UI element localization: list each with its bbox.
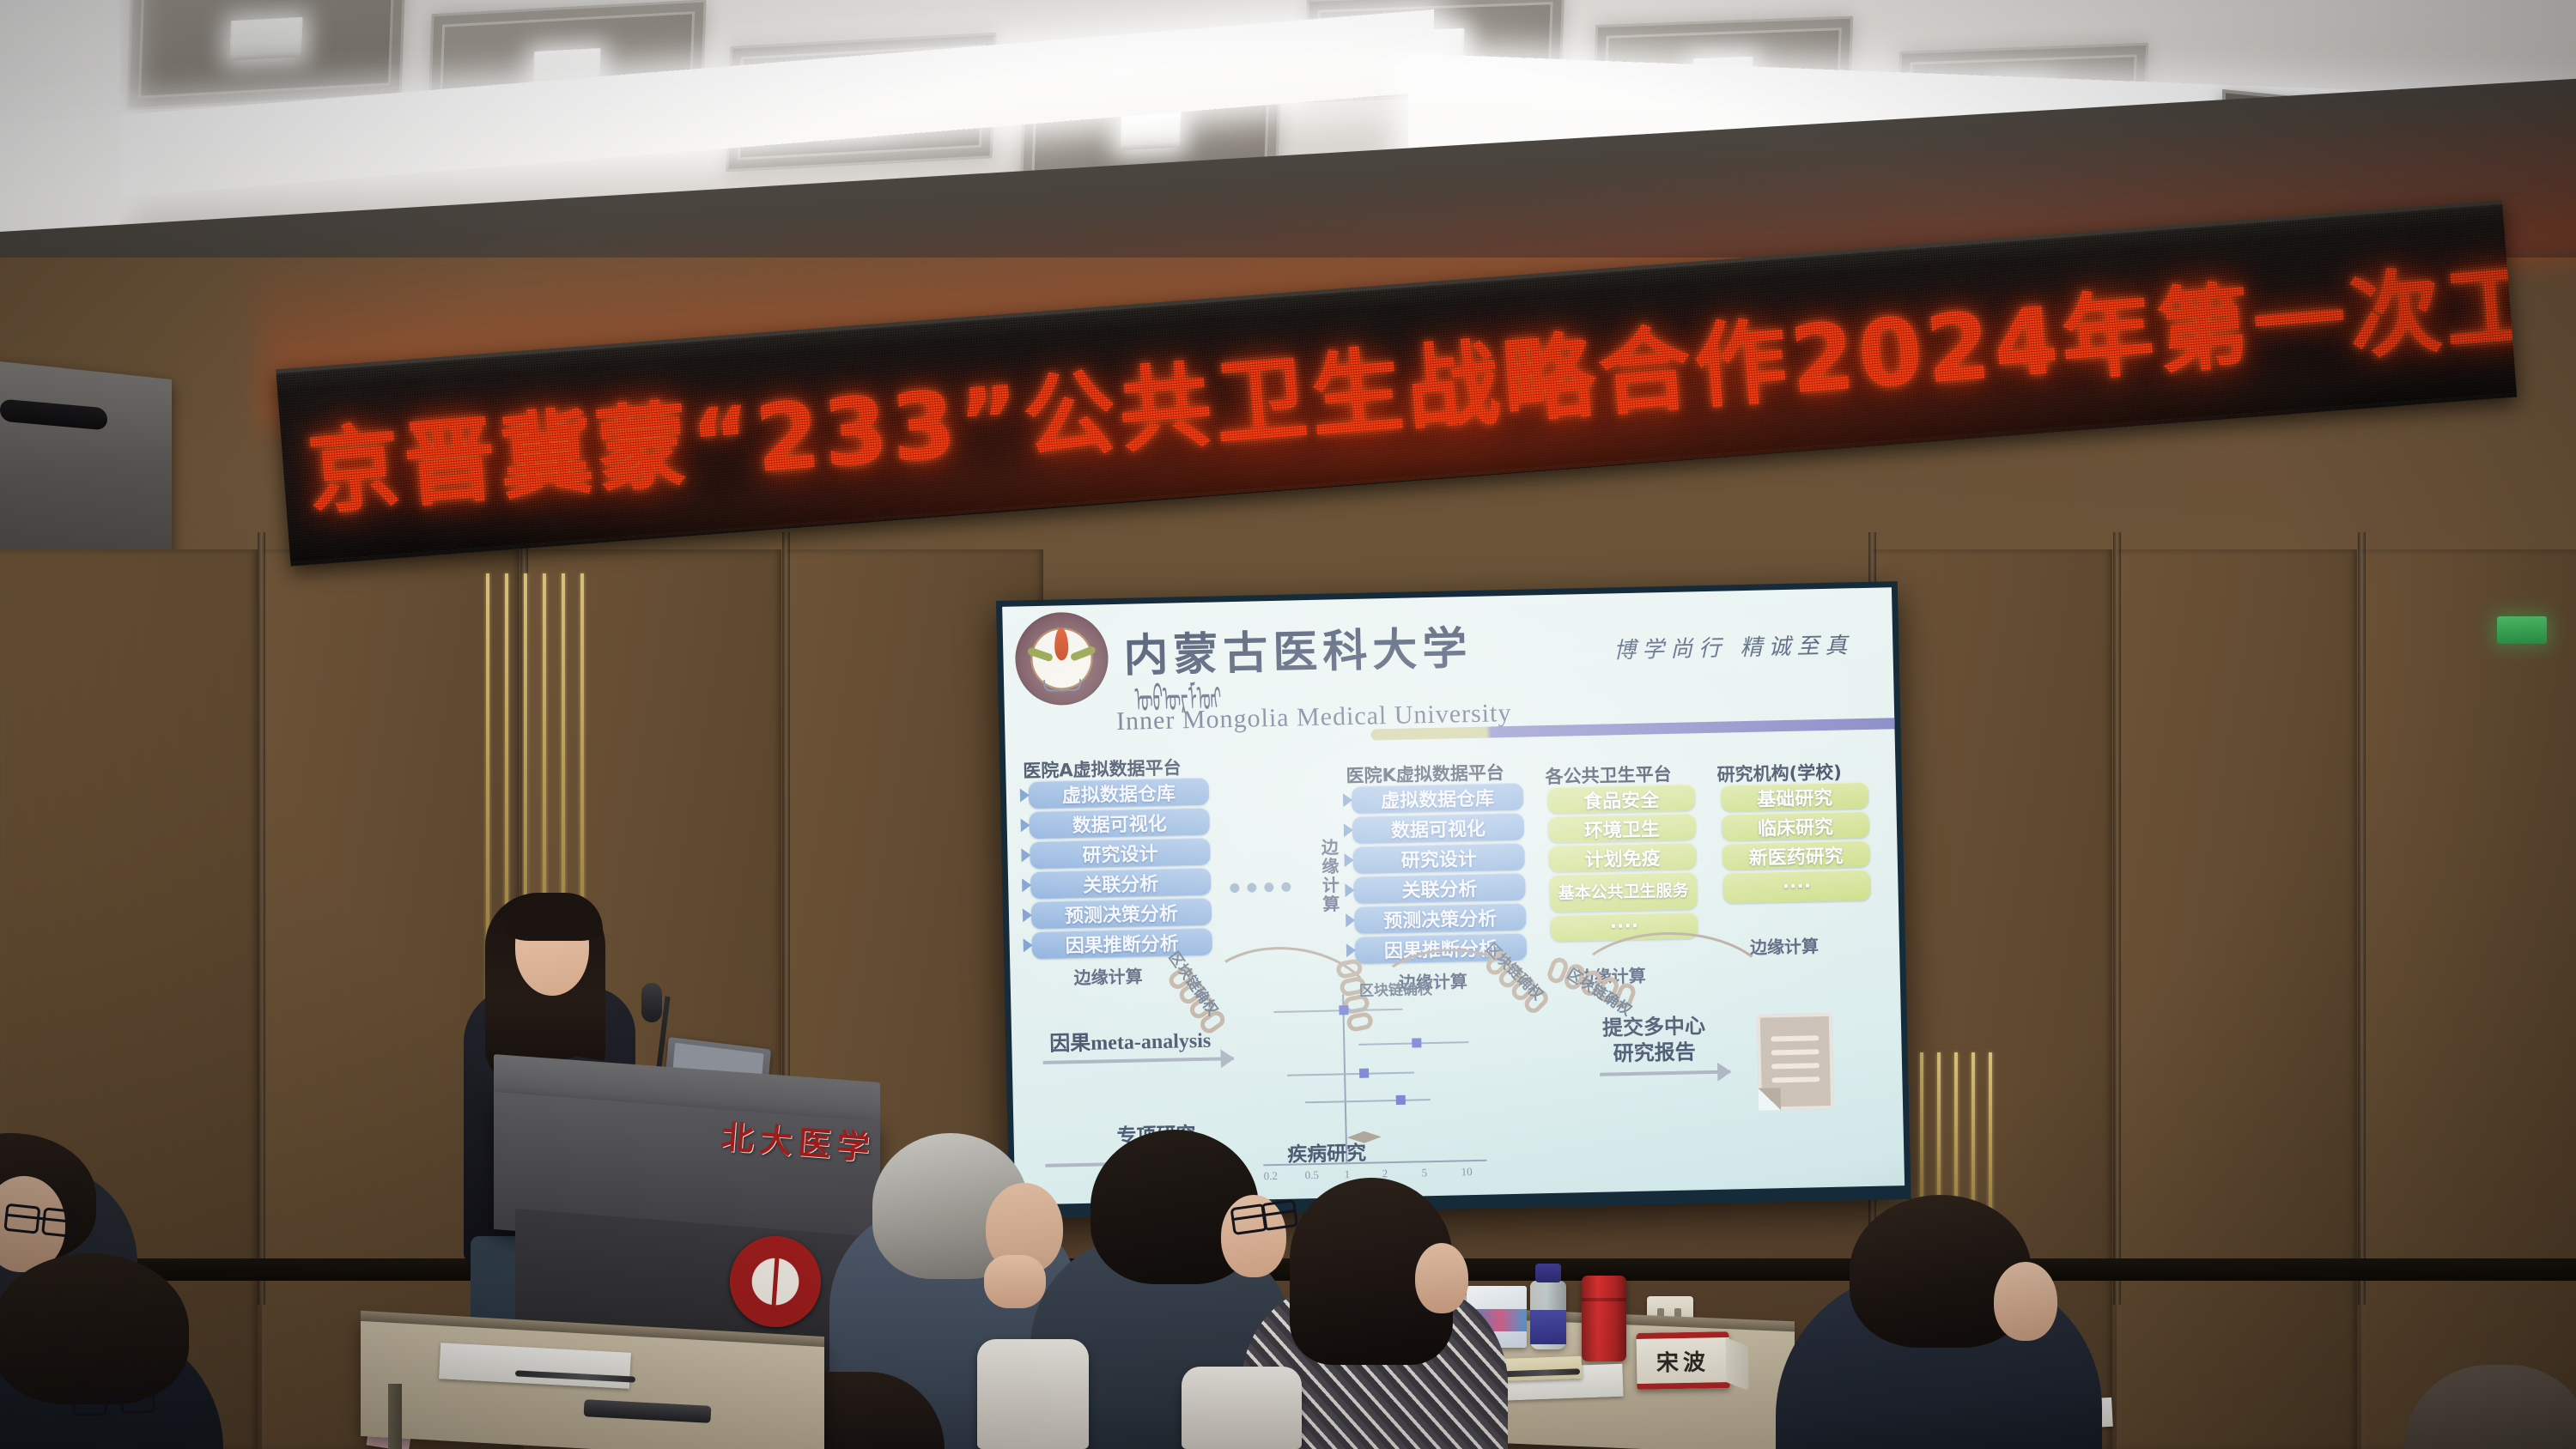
projection-screen: 内蒙古医科大学 ᠥᠪᠦᠷᠮᠤᠩ Inner Mongolia Medical U… (996, 581, 1911, 1219)
slide-cell: 关联分析 (1353, 873, 1526, 904)
slide-cell: 关联分析 (1030, 868, 1212, 900)
flow-label-disease-research: 疾病研究 (1287, 1137, 1367, 1167)
name-card: 宋波 (1636, 1331, 1729, 1390)
eyeglasses-icon (1231, 1210, 1297, 1222)
forest-point (1359, 1069, 1369, 1078)
slide-cell: 基础研究 (1721, 782, 1869, 812)
table-leg (388, 1384, 402, 1449)
slide-cell: 研究设计 (1030, 838, 1211, 870)
slide-edge-compute-label: 边缘计算 (1073, 962, 1143, 989)
forest-tick: 10 (1461, 1165, 1472, 1179)
forest-point (1412, 1038, 1421, 1047)
audience-head (1994, 1262, 2057, 1341)
slide-column-stack: 虚拟数据仓库 数据可视化 研究设计 关联分析 预测决策分析 因果推断分析 (1352, 783, 1528, 967)
slide-cell: 新医药研究 (1722, 840, 1870, 870)
slide-cell: 虚拟数据仓库 (1029, 778, 1210, 809)
forest-tick: 5 (1421, 1166, 1427, 1179)
wall-panel (2361, 549, 2576, 1449)
slide-cell: 基本公共卫生服务 (1549, 871, 1698, 912)
downlight (229, 17, 303, 60)
flow-arrow (1600, 1070, 1730, 1076)
ceiling-coffer (126, 0, 405, 111)
flow-arrow (1043, 1057, 1234, 1064)
slide-cell: ···· (1722, 870, 1871, 904)
wall-baseboard (0, 1258, 2576, 1281)
slide-cell: 预测决策分析 (1031, 898, 1212, 930)
wall-panel-seam (258, 532, 265, 1305)
flow-label-meta-analysis: 因果meta-analysis (1049, 1023, 1212, 1057)
microphone-icon (641, 983, 662, 1022)
chair (1182, 1367, 1302, 1449)
document-icon (1757, 1013, 1834, 1111)
slide-motto: 博学尚行 精诚至真 (1613, 627, 1854, 664)
audience-hair (0, 1253, 189, 1404)
slide-cell: 数据可视化 (1352, 813, 1525, 844)
forest-point (1339, 1005, 1348, 1015)
forest-point (1396, 1095, 1406, 1105)
wall-panel-seam (2113, 532, 2121, 1305)
slide-column-stack: 虚拟数据仓库 数据可视化 研究设计 关联分析 预测决策分析 因果推断分析 (1029, 778, 1213, 962)
slide-cell: 计划免疫 (1548, 842, 1697, 872)
slide-edge-compute-label-middle: 边缘计算 (1316, 838, 1343, 914)
slide-ellipsis-dots (1230, 882, 1291, 894)
slide-cell: 虚拟数据仓库 (1352, 783, 1524, 814)
slide-column-stack: 食品安全 环境卫生 计划免疫 基本公共卫生服务 ···· (1547, 784, 1698, 944)
water-bottle (1530, 1281, 1566, 1349)
exit-sign (2497, 616, 2547, 644)
wall-panel (2117, 549, 2357, 1449)
slide-cell: 临床研究 (1722, 811, 1870, 841)
slide-edge-compute-label: 边缘计算 (1750, 932, 1820, 959)
audience-hand (984, 1255, 1046, 1308)
slide-cell: 预测决策分析 (1354, 903, 1527, 934)
forest-ci (1287, 1072, 1414, 1076)
slide-cell: 数据可视化 (1029, 808, 1210, 840)
wall-panel-seam (2358, 532, 2366, 1305)
audience-head (1415, 1243, 1468, 1313)
university-logo-icon (1014, 611, 1109, 706)
chair (977, 1339, 1089, 1449)
slide-cell: 研究设计 (1352, 843, 1525, 874)
conference-hall-photo: 内蒙古医科大学 ᠥᠪᠦᠷᠮᠤᠩ Inner Mongolia Medical U… (0, 0, 2576, 1449)
slide-org-name-mn: ᠥᠪᠦᠷᠮᠤᠩ (1134, 676, 1221, 703)
forest-tick: 1 (1345, 1167, 1351, 1181)
forest-plot: 0.2 0.5 1 2 5 10 (1248, 991, 1492, 1194)
flow-label-report-2: 研究报告 (1613, 1034, 1696, 1066)
presenter-fringe (507, 893, 603, 941)
slide-column-stack: 基础研究 临床研究 新医药研究 ···· (1721, 782, 1871, 906)
slide-cell: 环境卫生 (1548, 813, 1697, 843)
forest-tick: 0.5 (1305, 1168, 1320, 1182)
forest-ci (1305, 1099, 1431, 1103)
forest-tick: 0.2 (1264, 1169, 1279, 1183)
slide-cell: 食品安全 (1547, 784, 1696, 814)
slide-surface: 内蒙古医科大学 ᠥᠪᠦᠷᠮᠤᠩ Inner Mongolia Medical U… (1002, 587, 1905, 1204)
thermos-flask (1582, 1276, 1626, 1361)
